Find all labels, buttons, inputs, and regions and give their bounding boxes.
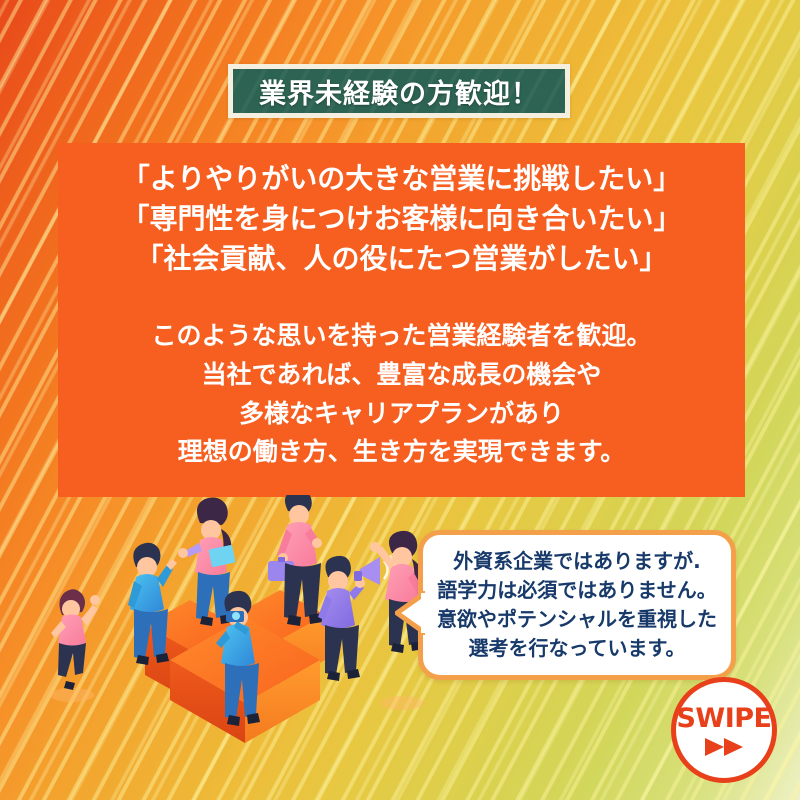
quote-line: 「専門性を身につけお客様に向き合いたい」 bbox=[121, 199, 681, 239]
body-line: 当社であれば、豊富な成長の機会や bbox=[151, 356, 651, 395]
body-paragraph: このような思いを持った営業経験者を歓迎。 当社であれば、豊富な成長の機会や 多様… bbox=[151, 317, 651, 472]
header-banner: 業界未経験の方歓迎！ bbox=[228, 64, 570, 118]
quote-list: 「よりやりがいの大きな営業に挑戦したい」 「専門性を身につけお客様に向き合いたい… bbox=[121, 159, 681, 279]
main-message-panel: 「よりやりがいの大きな営業に挑戦したい」 「専門性を身につけお客様に向き合いたい… bbox=[58, 143, 745, 497]
body-line: 理想の働き方、生き方を実現できます。 bbox=[151, 433, 651, 472]
isometric-people-svg bbox=[40, 495, 440, 745]
speech-bubble-tail bbox=[395, 591, 425, 635]
fast-forward-icon bbox=[703, 737, 745, 757]
swipe-button[interactable]: SWIPE bbox=[671, 677, 777, 783]
header-banner-inner: 業界未経験の方歓迎！ bbox=[233, 69, 565, 113]
bubble-line: 意欲やポテンシャルを重視した bbox=[437, 605, 717, 634]
header-banner-title: 業界未経験の方歓迎！ bbox=[259, 72, 539, 111]
swipe-label: SWIPE bbox=[676, 705, 771, 732]
bubble-line: 選考を行なっています。 bbox=[469, 634, 686, 663]
quote-line: 「社会貢献、人の役にたつ営業がしたい」 bbox=[121, 239, 681, 279]
people-illustration bbox=[40, 495, 440, 745]
body-line: このような思いを持った営業経験者を歓迎。 bbox=[151, 317, 651, 356]
poster-canvas: 業界未経験の方歓迎！ 「よりやりがいの大きな営業に挑戦したい」 「専門性を身につ… bbox=[0, 0, 800, 800]
bubble-line: 語学力は必須ではありません。 bbox=[437, 576, 716, 605]
person-with-megaphone bbox=[318, 555, 396, 681]
speech-bubble: 外資系企業ではありますが. 語学力は必須ではありません。 意欲やポテンシャルを重… bbox=[418, 530, 736, 680]
person-cheering bbox=[50, 589, 100, 702]
body-line: 多様なキャリアプランがあり bbox=[151, 395, 651, 434]
bubble-line: 外資系企業ではありますが. bbox=[453, 547, 701, 576]
quote-line: 「よりやりがいの大きな営業に挑戦したい」 bbox=[121, 159, 681, 199]
